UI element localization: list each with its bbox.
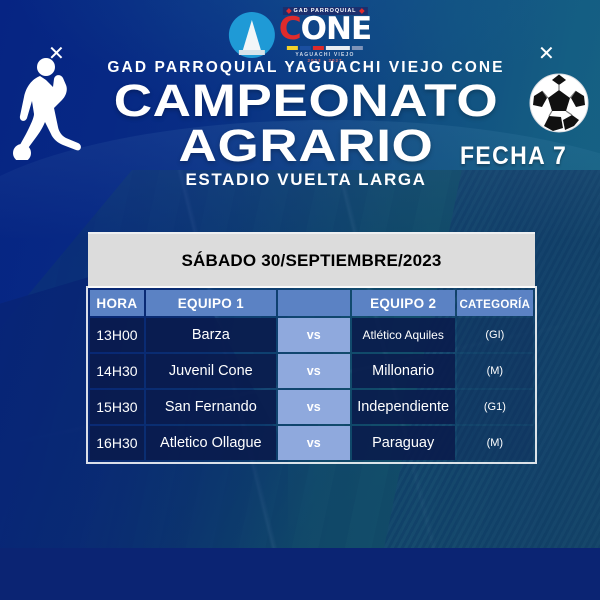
fixtures-table-body: 13H00 Barza vs Atlético Aquiles (GI) 14H…	[90, 318, 533, 460]
column-header-hora-label: HORA	[96, 296, 137, 311]
logo-badge-icon	[229, 12, 275, 58]
column-header-equipo1: EQUIPO 1	[146, 290, 276, 316]
cell-equipo1: Atletico Ollague	[146, 426, 276, 460]
column-header-categoria: CATEGORÍA	[457, 290, 533, 316]
fixture-date-header: SÁBADO 30/SEPTIEMBRE/2023	[88, 232, 535, 288]
table-row: 14H30 Juvenil Cone vs Millonario (M)	[90, 354, 533, 388]
fixtures-table-head: HORA EQUIPO 1 EQUIPO 2 CATEGORÍA	[90, 290, 533, 316]
logo-word: C ONE	[279, 15, 371, 44]
tournament-poster: GAD PARROQUIAL C ONE YAGUACHI VIEJO 2023…	[0, 0, 600, 600]
fixtures-table: HORA EQUIPO 1 EQUIPO 2 CATEGORÍA	[88, 288, 535, 462]
bar-white	[326, 46, 350, 50]
cell-vs: vs	[278, 390, 350, 424]
monument-icon	[243, 20, 261, 50]
table-row: 16H30 Atletico Ollague vs Paraguay (M)	[90, 426, 533, 460]
cell-equipo2: Paraguay	[352, 426, 455, 460]
logo-wordmark: GAD PARROQUIAL C ONE YAGUACHI VIEJO 2023…	[279, 7, 371, 62]
column-header-equipo1-label: EQUIPO 1	[178, 296, 244, 311]
cell-hora: 15H30	[90, 390, 144, 424]
matchday-label: FECHA 7	[460, 142, 567, 171]
fixtures-header-row: HORA EQUIPO 1 EQUIPO 2 CATEGORÍA	[90, 290, 533, 316]
cell-hora: 16H30	[90, 426, 144, 460]
table-row: 15H30 San Fernando vs Independiente (G1)	[90, 390, 533, 424]
cell-vs: vs	[278, 354, 350, 388]
cell-equipo2: Independiente	[352, 390, 455, 424]
column-header-equipo2-label: EQUIPO 2	[370, 296, 436, 311]
x-mark-icon-right: ✕	[538, 43, 555, 63]
column-header-equipo2: EQUIPO 2	[352, 290, 455, 316]
bottom-navy-strip	[0, 548, 600, 600]
bar-blue	[300, 46, 311, 50]
cell-categoria: (GI)	[457, 318, 533, 352]
logo-letter-c: C	[279, 15, 301, 44]
title-block: GAD PARROQUIAL YAGUACHI VIEJO CONE CAMPE…	[96, 60, 516, 190]
cone-logo: GAD PARROQUIAL C ONE YAGUACHI VIEJO 2023…	[229, 4, 371, 66]
cell-hora: 13H00	[90, 318, 144, 352]
column-header-vs	[278, 290, 350, 316]
cell-equipo1: San Fernando	[146, 390, 276, 424]
fixture-date-label: SÁBADO 30/SEPTIEMBRE/2023	[181, 251, 441, 271]
cell-vs: vs	[278, 318, 350, 352]
logo-letters-one: ONE	[301, 15, 371, 44]
cell-hora: 14H30	[90, 354, 144, 388]
cell-categoria: (G1)	[457, 390, 533, 424]
cell-vs: vs	[278, 426, 350, 460]
bar-red	[313, 46, 324, 50]
column-header-hora: HORA	[90, 290, 144, 316]
bar-gray	[352, 46, 363, 50]
column-header-categoria-label: CATEGORÍA	[459, 299, 530, 311]
cell-categoria: (M)	[457, 354, 533, 388]
venue-name: ESTADIO VUELTA LARGA	[96, 170, 516, 190]
cell-equipo2: Millonario	[352, 354, 455, 388]
bar-yellow	[287, 46, 298, 50]
logo-color-bars	[287, 46, 363, 50]
fixtures-table-container: SÁBADO 30/SEPTIEMBRE/2023 HORA EQUIPO 1 …	[88, 232, 535, 462]
table-row: 13H00 Barza vs Atlético Aquiles (GI)	[90, 318, 533, 352]
organization-name: GAD PARROQUIAL YAGUACHI VIEJO CONE	[96, 60, 516, 76]
cell-equipo1: Barza	[146, 318, 276, 352]
cell-categoria: (M)	[457, 426, 533, 460]
cell-equipo2: Atlético Aquiles	[352, 318, 455, 352]
cell-equipo1: Juvenil Cone	[146, 354, 276, 388]
